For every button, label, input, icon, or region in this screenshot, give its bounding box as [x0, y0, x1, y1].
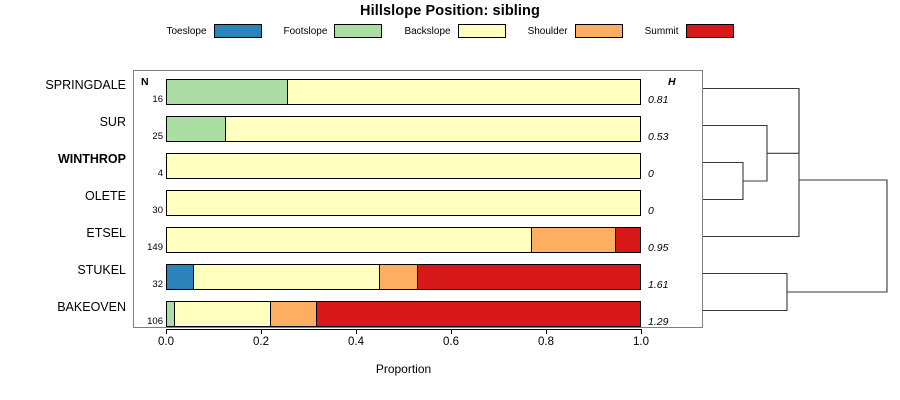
bar-segment-backslope [167, 154, 640, 178]
bar-segment-backslope [167, 228, 532, 252]
row-n-value: 16 [133, 94, 163, 105]
row-h-value: 0 [648, 205, 688, 217]
x-tick-label: 1.0 [633, 336, 649, 348]
row-h-value: 0 [648, 168, 688, 180]
legend-swatch-toeslope [214, 24, 262, 38]
row-n-value: 32 [133, 279, 163, 290]
bar-segment-summit [317, 302, 640, 326]
dendrogram [703, 70, 893, 328]
row-h-value: 0.81 [648, 94, 688, 106]
stacked-bar [166, 264, 641, 290]
legend-item-label: Shoulder [528, 26, 568, 37]
legend-item-shoulder: Shoulder [528, 24, 623, 38]
legend-item-label: Summit [645, 26, 679, 37]
x-axis-label: Proportion [166, 362, 641, 376]
row-n-value: 25 [133, 131, 163, 142]
stacked-bar [166, 190, 641, 216]
bar-segment-backslope [288, 80, 640, 104]
row-h-value: 0.95 [648, 242, 688, 254]
x-tick [261, 329, 262, 334]
bar-segment-shoulder [532, 228, 616, 252]
stacked-bar [166, 227, 641, 253]
row-label-springdale: SPRINGDALE [0, 78, 126, 92]
legend-swatch-footslope [334, 24, 382, 38]
stacked-bar [166, 79, 641, 105]
row-h-value: 1.29 [648, 316, 688, 328]
legend-item-footslope: Footslope [284, 24, 383, 38]
chart-root: Hillslope Position: sibling ToeslopeFoot… [0, 0, 900, 400]
legend-item-backslope: Backslope [404, 24, 505, 38]
bar-segment-shoulder [271, 302, 317, 326]
row-h-value: 1.61 [648, 279, 688, 291]
legend-item-label: Backslope [404, 26, 450, 37]
bar-segment-summit [616, 228, 640, 252]
legend-item-toeslope: Toeslope [166, 24, 261, 38]
row-label-sur: SUR [0, 115, 126, 129]
row-label-bakeoven: BAKEOVEN [0, 300, 126, 314]
legend-swatch-backslope [458, 24, 506, 38]
row-n-value: 4 [133, 168, 163, 179]
row-label-olete: OLETE [0, 189, 126, 203]
x-tick [356, 329, 357, 334]
row-label-etsel: ETSEL [0, 226, 126, 240]
legend-item-label: Toeslope [166, 26, 206, 37]
row-n-value: 30 [133, 205, 163, 216]
row-label-stukel: STUKEL [0, 263, 126, 277]
row-label-winthrop: WINTHROP [0, 152, 126, 166]
bar-segment-backslope [194, 265, 380, 289]
dendro-node-sur-group [735, 126, 767, 182]
bar-segment-footslope [167, 80, 288, 104]
legend-swatch-summit [686, 24, 734, 38]
bar-segment-footslope [167, 117, 226, 141]
x-tick-label: 0.2 [253, 336, 269, 348]
x-tick [641, 329, 642, 334]
row-n-value: 149 [133, 242, 163, 253]
dendro-root [787, 180, 887, 292]
bar-segment-backslope [226, 117, 640, 141]
dendrogram-svg [703, 70, 893, 328]
bar-segment-toeslope [167, 265, 194, 289]
dendro-node-stukel-bakeoven [735, 274, 787, 311]
x-tick [166, 329, 167, 334]
bar-segment-backslope [175, 302, 271, 326]
x-tick-label: 0.4 [348, 336, 364, 348]
stacked-bar [166, 153, 641, 179]
bar-segment-shoulder [380, 265, 418, 289]
x-axis-line [166, 329, 641, 330]
x-tick-label: 0.0 [158, 336, 174, 348]
row-n-value: 106 [133, 316, 163, 327]
stacked-bar [166, 116, 641, 142]
dendro-node-winthrop-olete [735, 163, 743, 200]
x-tick-label: 0.6 [443, 336, 459, 348]
chart-title: Hillslope Position: sibling [0, 3, 900, 19]
row-h-value: 0.53 [648, 131, 688, 143]
stacked-bar [166, 301, 641, 327]
x-tick [451, 329, 452, 334]
legend-swatch-shoulder [575, 24, 623, 38]
bar-segment-summit [418, 265, 640, 289]
bar-segment-footslope [167, 302, 175, 326]
legend-item-label: Footslope [284, 26, 328, 37]
legend: ToeslopeFootslopeBackslopeShoulderSummit [0, 24, 900, 38]
bar-segment-backslope [167, 191, 640, 215]
x-tick [546, 329, 547, 334]
legend-item-summit: Summit [645, 24, 734, 38]
x-tick-label: 0.8 [538, 336, 554, 348]
